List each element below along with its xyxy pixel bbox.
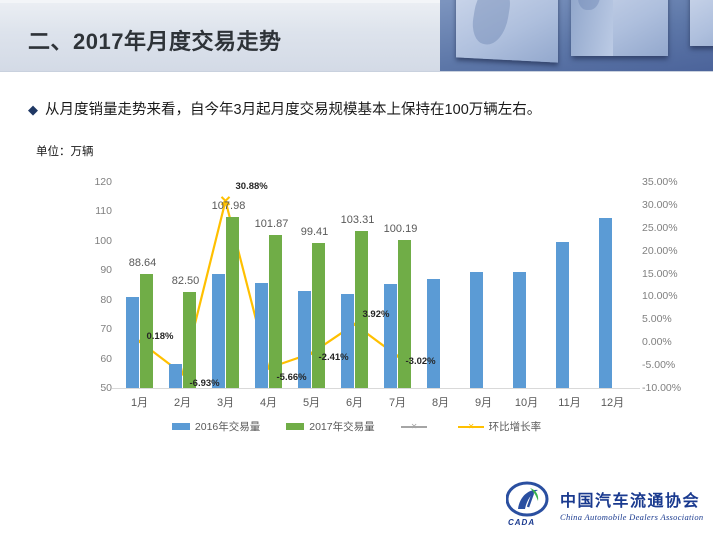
bullet-text: 从月度销量走势来看，自今年3月起月度交易规模基本上保持在100万辆左右。 <box>45 98 541 119</box>
cada-swirl-icon <box>506 481 554 521</box>
y-axis-tick: 60 <box>100 353 112 365</box>
bar <box>427 279 440 388</box>
bar-value-label: 101.87 <box>255 218 289 230</box>
y2-axis-tick: -10.00% <box>642 382 681 394</box>
legend-item[interactable]: ✕ <box>401 422 432 432</box>
bar-value-label: 99.41 <box>301 226 329 238</box>
cube-icon <box>572 0 668 56</box>
y-axis-tick: 70 <box>100 323 112 335</box>
y-axis-tick: 120 <box>94 176 112 188</box>
logo-abbreviation: CADA <box>508 518 535 527</box>
legend-label: 2016年交易量 <box>195 419 260 434</box>
y-axis-tick: 110 <box>95 205 112 217</box>
logo-name-chinese: 中国汽车流通协会 <box>560 487 703 511</box>
left-value-axis: 1201101009080706050 <box>78 168 112 413</box>
bar <box>341 294 354 388</box>
chart-legend: 2016年交易量2017年交易量✕✕环比增长率 <box>0 419 713 434</box>
bar <box>556 242 569 388</box>
bar <box>269 235 282 388</box>
monthly-transaction-chart: 1201101009080706050 35.00%30.00%25.00%20… <box>0 168 713 413</box>
slide: 二、2017年月度交易走势 ◆ 从月度销量走势来看，自今年3月起月度交易规模基本… <box>0 0 713 535</box>
x-axis-tick: 10月 <box>515 394 538 410</box>
line-value-label: 0.18% <box>147 331 174 342</box>
bar <box>169 364 182 388</box>
bar <box>513 272 526 388</box>
y-axis-tick: 50 <box>100 382 112 394</box>
bar <box>470 272 483 388</box>
bar <box>312 243 325 388</box>
cada-emblem-icon: CADA <box>506 481 554 527</box>
legend-color-swatch <box>286 423 304 430</box>
y-axis-tick: 90 <box>100 264 112 276</box>
legend-item[interactable]: 2017年交易量 <box>286 419 374 434</box>
line-value-label: 30.88% <box>236 181 268 192</box>
y2-axis-tick: 10.00% <box>642 290 678 302</box>
x-axis-tick: 5月 <box>303 394 320 410</box>
page-title: 二、2017年月度交易走势 <box>28 24 281 56</box>
y-axis-tick: 100 <box>94 235 112 247</box>
x-axis-tick: 8月 <box>432 394 449 410</box>
organization-logo: CADA 中国汽车流通协会 China Automobile Dealers A… <box>506 478 702 530</box>
x-axis-tick: 6月 <box>346 394 363 410</box>
header-decorative-photo <box>440 0 713 72</box>
legend-label: 2017年交易量 <box>309 419 374 434</box>
line-value-label: 3.92% <box>363 309 390 320</box>
header-divider <box>0 71 713 72</box>
x-axis-tick: 12月 <box>601 394 624 410</box>
bar-value-label: 107.98 <box>212 200 246 212</box>
bar-value-label: 100.19 <box>384 223 418 235</box>
y2-axis-tick: 0.00% <box>642 336 672 348</box>
bar <box>212 274 225 388</box>
bar <box>226 217 239 388</box>
bar-value-label: 103.31 <box>341 214 375 226</box>
legend-item[interactable]: ✕环比增长率 <box>458 419 542 434</box>
x-axis-tick: 3月 <box>217 394 234 410</box>
y2-axis-tick: 20.00% <box>642 245 678 257</box>
bullet-row: ◆ 从月度销量走势来看，自今年3月起月度交易规模基本上保持在100万辆左右。 <box>28 98 541 119</box>
bar <box>384 284 397 388</box>
logo-name-english: China Automobile Dealers Association <box>560 512 703 522</box>
bar <box>183 292 196 388</box>
legend-label: 环比增长率 <box>489 419 542 434</box>
line-value-label: -5.66% <box>277 372 307 383</box>
line-value-label: -2.41% <box>319 352 349 363</box>
bar-value-label: 82.50 <box>172 275 200 287</box>
chart-unit-label: 单位：万辆 <box>36 143 94 159</box>
slide-header: 二、2017年月度交易走势 <box>0 0 713 72</box>
line-value-label: -6.93% <box>190 378 220 389</box>
y2-axis-tick: -5.00% <box>642 359 675 371</box>
x-axis-tick: 4月 <box>260 394 277 410</box>
logo-text-block: 中国汽车流通协会 China Automobile Dealers Associ… <box>560 487 703 522</box>
y2-axis-tick: 35.00% <box>642 176 678 188</box>
category-axis-labels: 1月2月3月4月5月6月7月8月9月10月11月12月 <box>118 392 634 414</box>
right-percent-axis: 35.00%30.00%25.00%20.00%15.00%10.00%5.00… <box>642 168 710 413</box>
bar <box>126 297 139 388</box>
bar-value-label: 88.64 <box>129 257 157 269</box>
bar <box>255 283 268 388</box>
legend-line-swatch: ✕ <box>458 422 484 432</box>
x-axis-tick: 11月 <box>558 394 580 410</box>
x-axis-tick: 7月 <box>389 394 406 410</box>
cube-icon <box>456 0 558 63</box>
legend-color-swatch <box>172 423 190 430</box>
line-value-label: -3.02% <box>406 356 436 367</box>
cube-icon <box>690 0 713 46</box>
legend-line-swatch: ✕ <box>401 422 427 432</box>
x-axis-tick: 1月 <box>131 394 148 410</box>
y2-axis-tick: 15.00% <box>642 268 678 280</box>
diamond-bullet-icon: ◆ <box>28 103 38 116</box>
x-axis-tick: 2月 <box>174 394 191 410</box>
y2-axis-tick: 25.00% <box>642 222 678 234</box>
y2-axis-tick: 5.00% <box>642 313 672 325</box>
x-axis-tick: 9月 <box>475 394 492 410</box>
plot-area: 88.6482.50107.98101.8799.41103.31100.190… <box>118 182 634 388</box>
bar <box>599 218 612 388</box>
y-axis-tick: 80 <box>100 294 112 306</box>
y2-axis-tick: 30.00% <box>642 199 678 211</box>
legend-item[interactable]: 2016年交易量 <box>172 419 260 434</box>
